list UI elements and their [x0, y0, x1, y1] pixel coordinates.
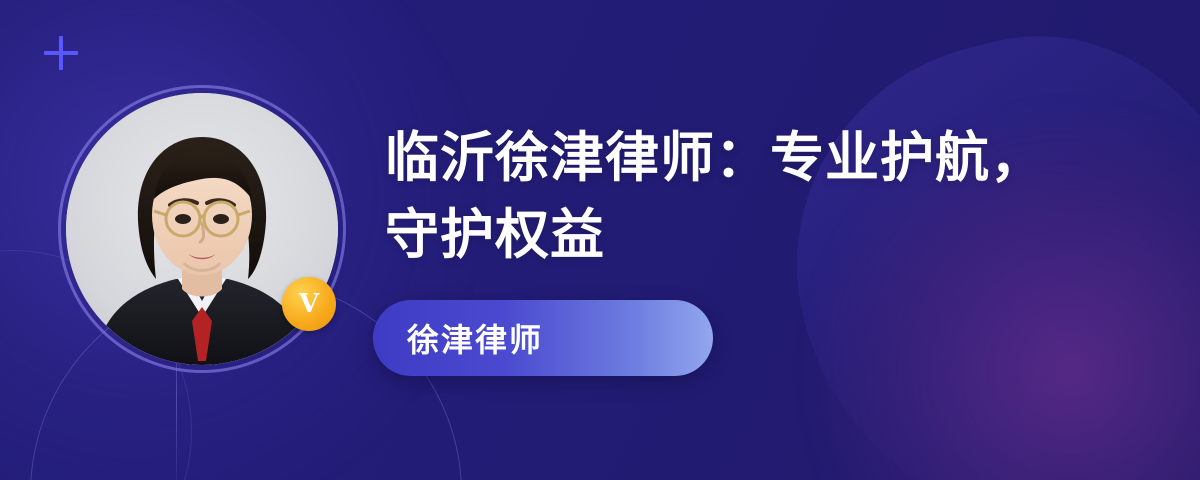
verified-badge-icon: V — [282, 277, 336, 331]
page-title: 临沂徐津律师：专业护航，守护权益 — [385, 120, 1045, 273]
author-name-label: 徐津律师 — [407, 315, 543, 361]
promo-banner: V 临沂徐津律师：专业护航，守护权益 徐津律师 — [0, 0, 1200, 480]
author-name-chip: 徐津律师 — [373, 300, 713, 376]
avatar: V — [58, 85, 346, 373]
plus-icon — [44, 36, 78, 70]
